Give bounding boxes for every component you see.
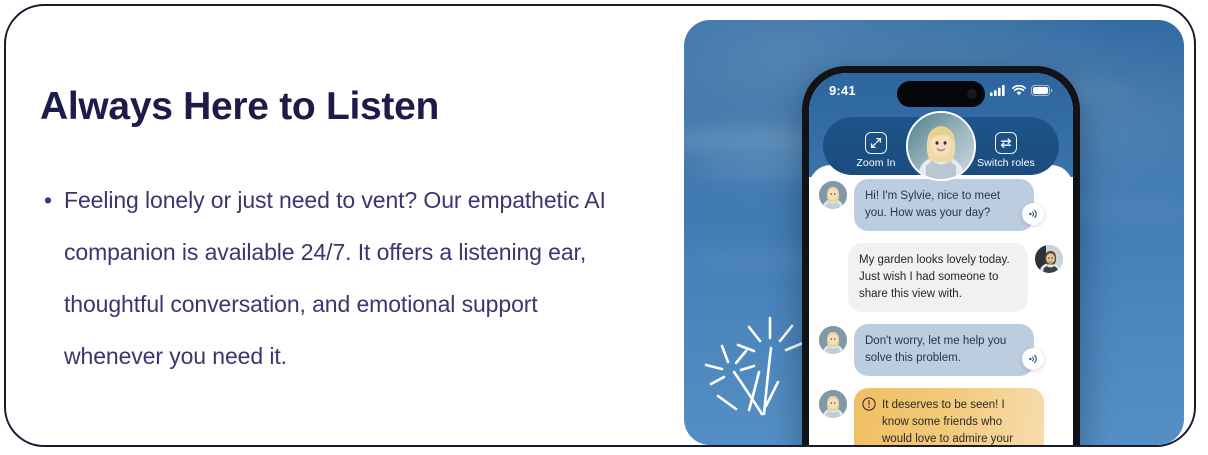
- screenshot-root: Always Here to Listen • Feeling lonely o…: [0, 0, 1208, 455]
- chat-message: My garden looks lovely today. Just wish …: [819, 243, 1063, 312]
- chat-message-list[interactable]: Hi! I'm Sylvie, nice to meet you. How wa…: [809, 165, 1073, 445]
- chat-message: Hi! I'm Sylvie, nice to meet you. How wa…: [819, 179, 1063, 231]
- message-bubble[interactable]: It deserves to be seen! I know some frie…: [854, 388, 1044, 445]
- user-avatar[interactable]: [1035, 245, 1063, 273]
- phone-screen: 9:41: [809, 73, 1073, 445]
- message-text: Don't worry, let me help you solve this …: [865, 335, 1006, 364]
- message-text: Hi! I'm Sylvie, nice to meet you. How wa…: [865, 190, 1000, 219]
- cellular-signal-icon: [990, 85, 1007, 96]
- zoom-in-label: Zoom In: [856, 157, 895, 169]
- list-item: • Feeling lonely or just need to vent? O…: [40, 174, 640, 382]
- bullet-marker: •: [44, 174, 52, 226]
- page-title: Always Here to Listen: [40, 84, 640, 130]
- message-bubble[interactable]: Don't worry, let me help you solve this …: [854, 324, 1034, 376]
- zoom-in-button[interactable]: Zoom In: [837, 132, 915, 169]
- hero-visual-panel: 9:41: [684, 20, 1184, 445]
- sylvie-avatar[interactable]: [819, 181, 847, 209]
- copy-column: Always Here to Listen • Feeling lonely o…: [40, 84, 640, 382]
- chat-message: It deserves to be seen! I know some frie…: [819, 388, 1063, 445]
- message-bubble[interactable]: Hi! I'm Sylvie, nice to meet you. How wa…: [854, 179, 1034, 231]
- switch-roles-label: Switch roles: [977, 157, 1035, 169]
- wifi-icon: [1012, 85, 1026, 96]
- feature-card: Always Here to Listen • Feeling lonely o…: [4, 4, 1196, 447]
- speaker-wave-icon[interactable]: [1022, 348, 1044, 370]
- bullet-list: • Feeling lonely or just need to vent? O…: [40, 174, 640, 382]
- front-camera-lens: [967, 89, 977, 99]
- expand-arrows-icon: [865, 132, 887, 154]
- message-bubble[interactable]: My garden looks lovely today. Just wish …: [848, 243, 1028, 312]
- speaker-wave-icon[interactable]: [1022, 203, 1044, 225]
- dynamic-island: [897, 81, 985, 107]
- phone-mockup: 9:41: [802, 66, 1080, 445]
- chat-message: Don't worry, let me help you solve this …: [819, 324, 1063, 376]
- companion-avatar[interactable]: [906, 111, 976, 181]
- bullet-text: Feeling lonely or just need to vent? Our…: [64, 187, 606, 369]
- battery-icon: [1031, 85, 1053, 96]
- message-text: It deserves to be seen! I know some frie…: [882, 399, 1013, 445]
- status-bar-time: 9:41: [829, 83, 856, 98]
- message-text: My garden looks lovely today. Just wish …: [859, 254, 1010, 300]
- status-bar-icons: [990, 85, 1053, 96]
- sylvie-avatar[interactable]: [819, 390, 847, 418]
- swap-arrows-icon: [995, 132, 1017, 154]
- sylvie-avatar[interactable]: [819, 326, 847, 354]
- exclamation-circle-icon: [862, 397, 876, 411]
- switch-roles-button[interactable]: Switch roles: [967, 132, 1045, 169]
